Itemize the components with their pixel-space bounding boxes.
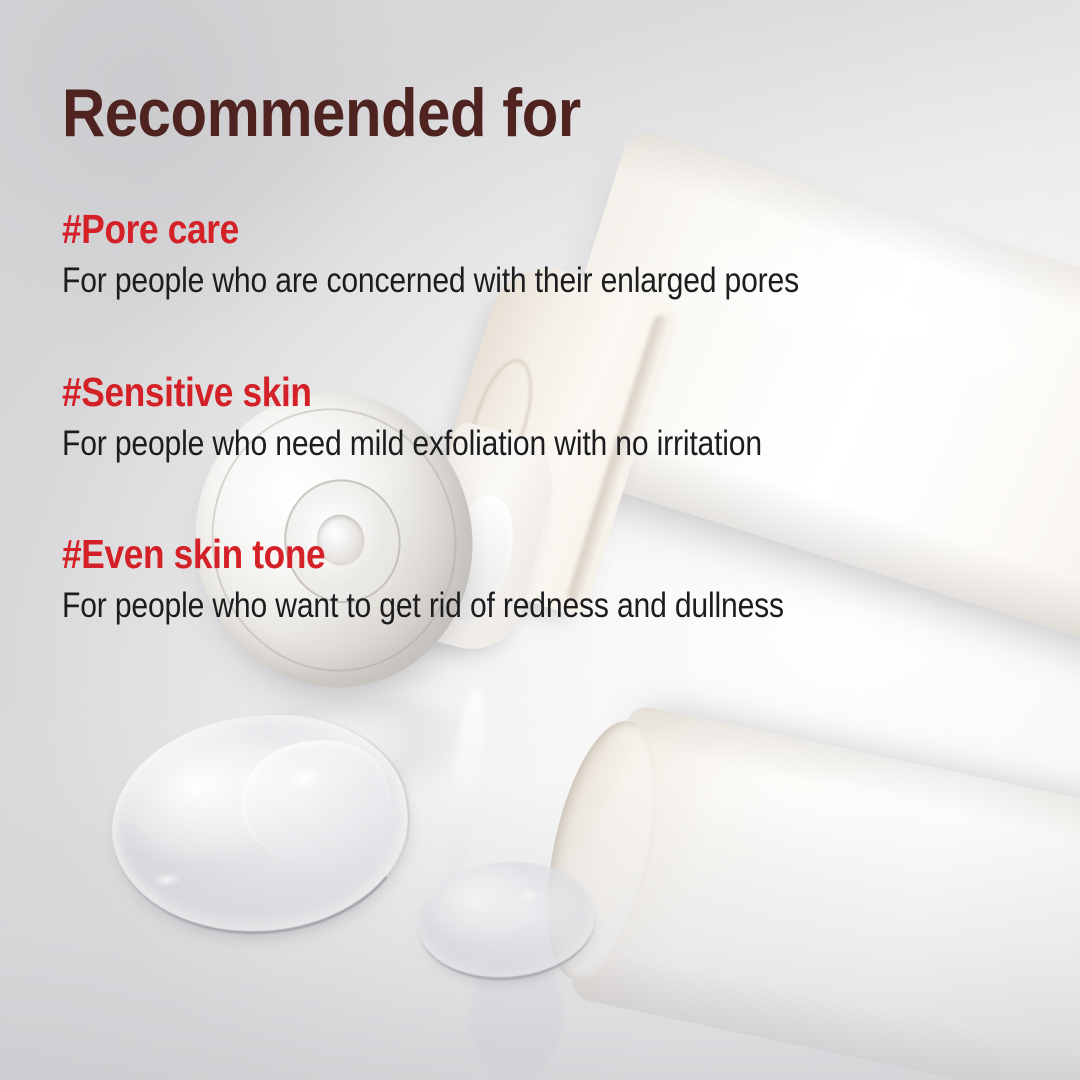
benefit-item-sensitive-skin: #Sensitive skin For people who need mild…: [62, 371, 876, 464]
benefit-tag: #Even skin tone: [62, 533, 784, 576]
benefit-description: For people who want to get rid of rednes…: [62, 587, 784, 626]
benefit-tag: #Pore care: [62, 208, 799, 251]
benefit-item-pore-care: #Pore care For people who are concerned …: [62, 208, 919, 301]
benefit-item-even-skin-tone: #Even skin tone For people who want to g…: [62, 533, 901, 626]
benefit-tag: #Sensitive skin: [62, 371, 762, 414]
benefit-description: For people who need mild exfoliation wit…: [62, 425, 762, 464]
text-overlay: Recommended for #Pore care For people wh…: [0, 0, 1080, 1080]
page-title: Recommended for: [62, 74, 581, 152]
benefit-description: For people who are concerned with their …: [62, 262, 799, 301]
product-benefits-banner: Recommended for #Pore care For people wh…: [0, 0, 1080, 1080]
